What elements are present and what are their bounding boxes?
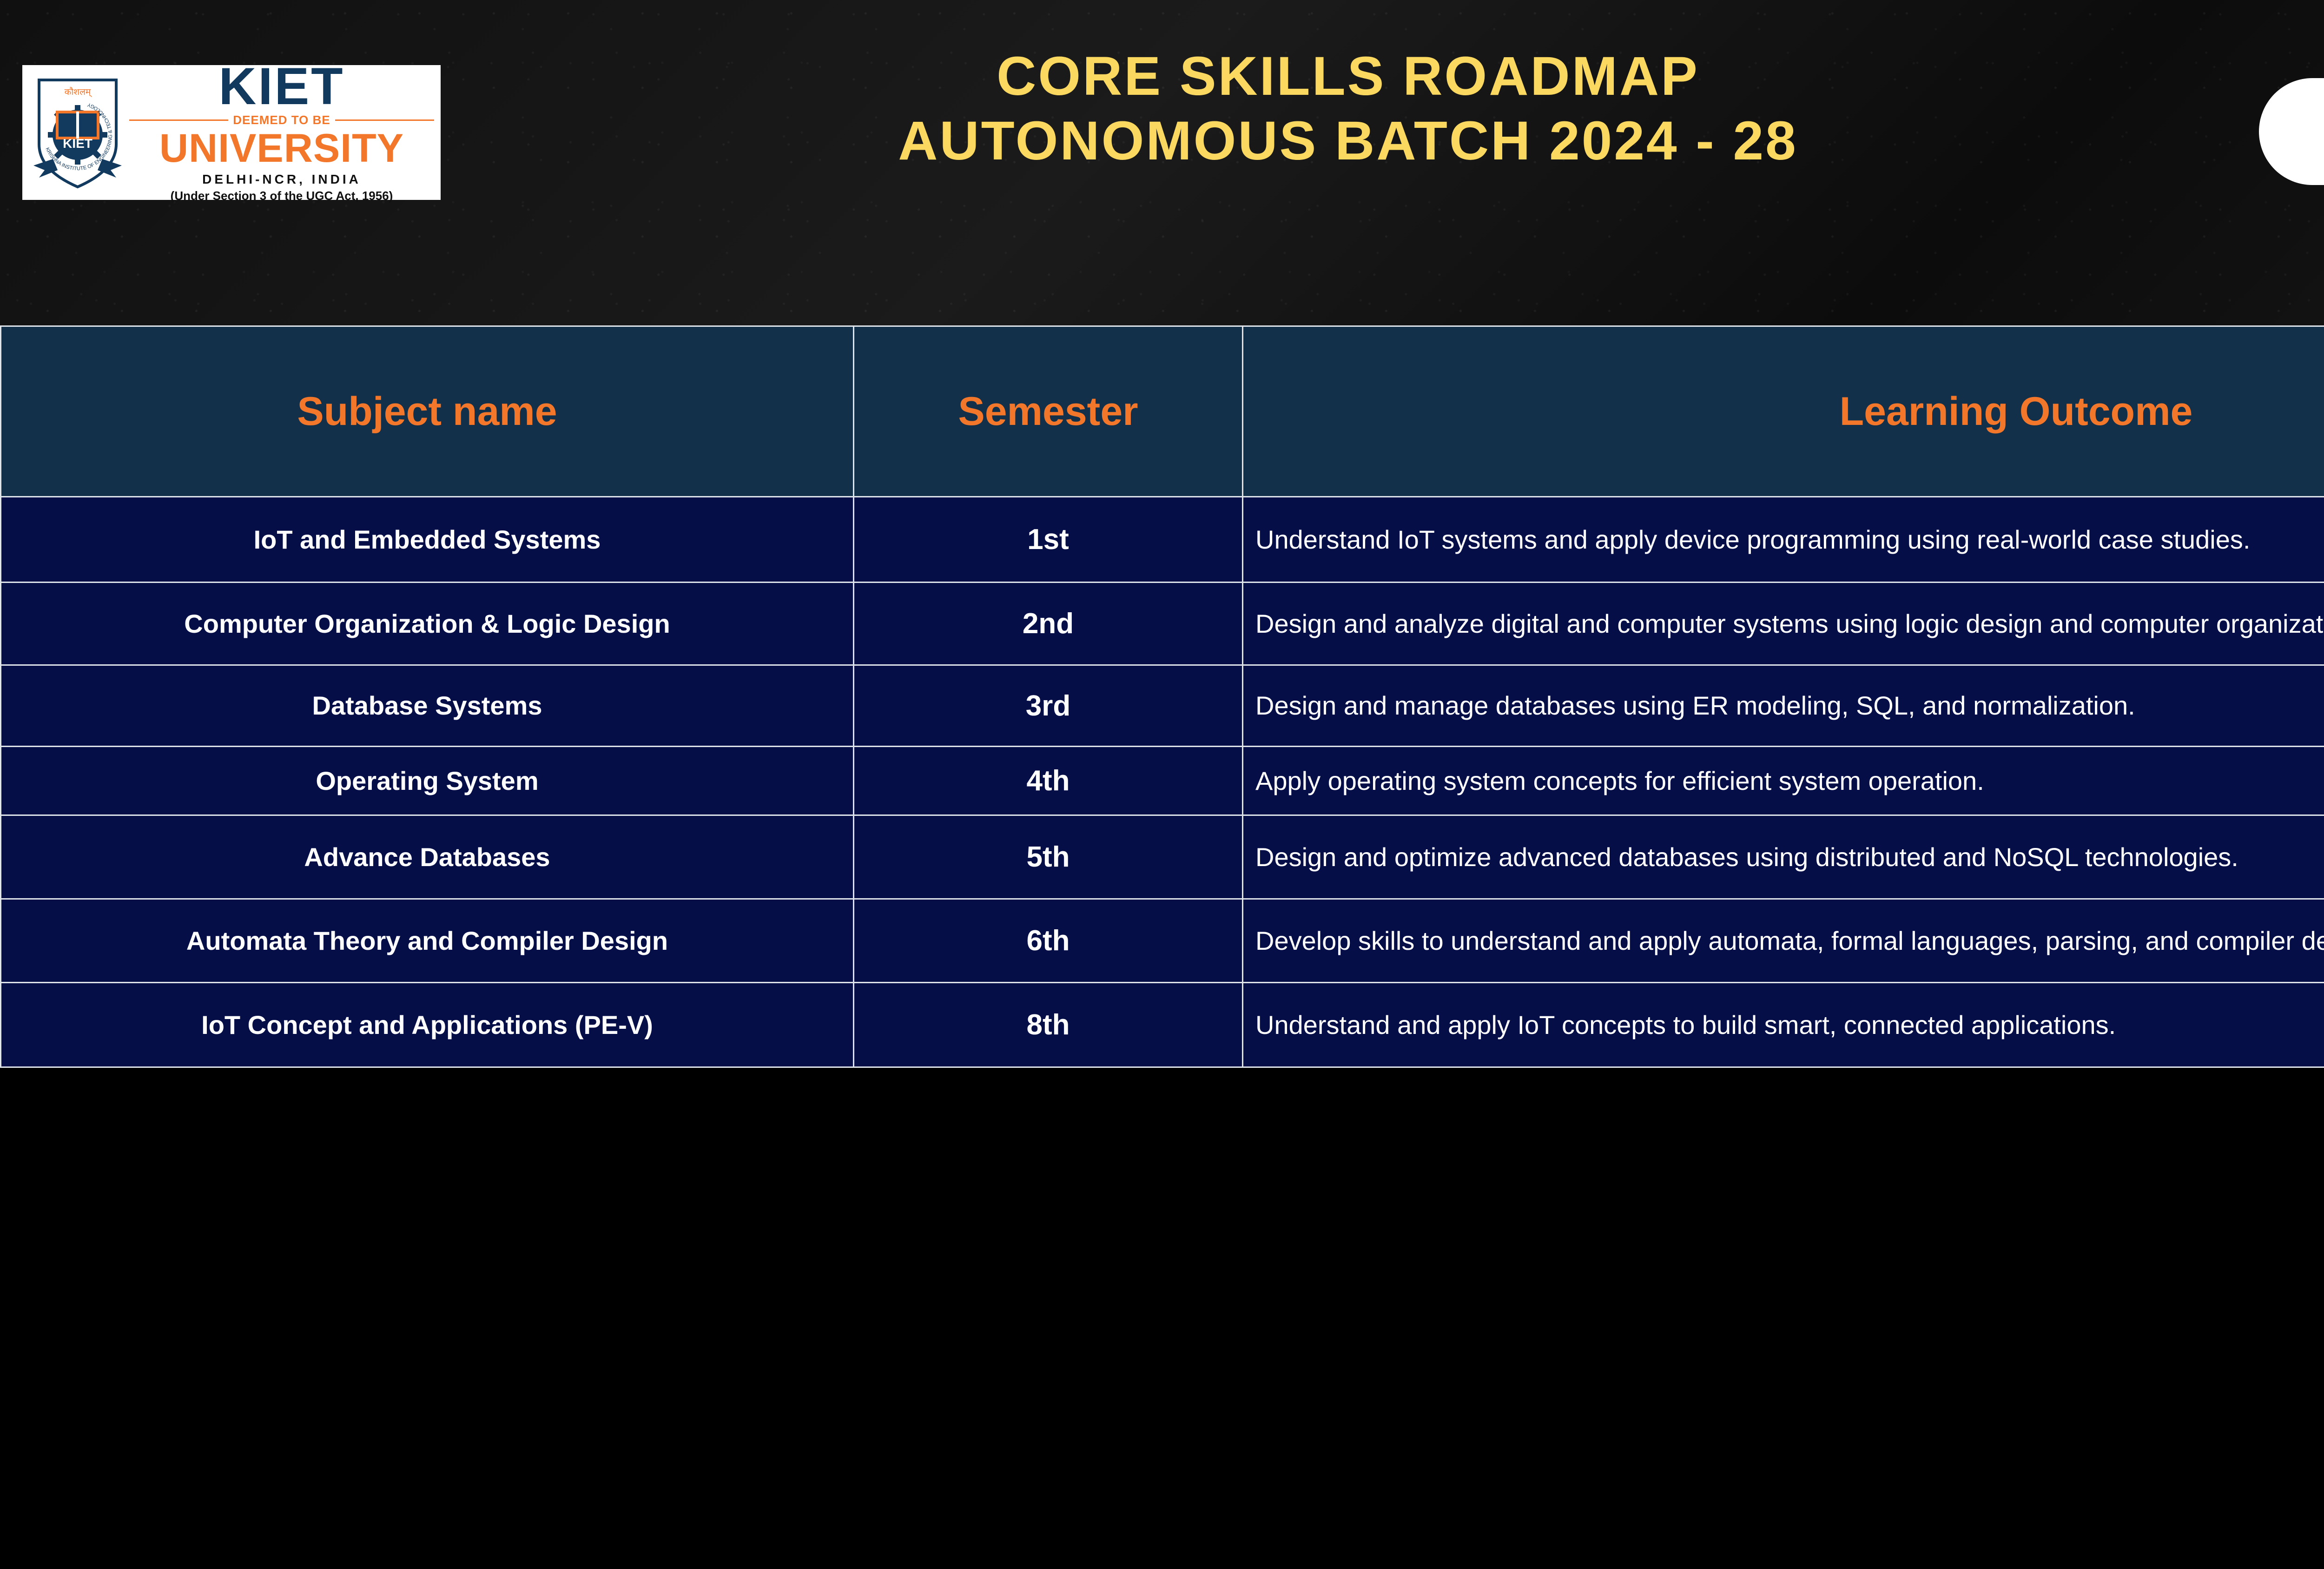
page-title-line-1: CORE SKILLS ROADMAP	[465, 44, 2231, 109]
page-header-band: कौशलम्	[0, 0, 2324, 325]
logo-deemed-text: DEEMED TO BE	[233, 113, 330, 127]
kiet-university-logo: कौशलम्	[22, 65, 441, 200]
logo-deemed-row: DEEMED TO BE	[129, 113, 434, 127]
cell-subject: Database Systems	[1, 665, 854, 747]
cell-learning-outcome: Apply operating system concepts for effi…	[1243, 747, 2324, 815]
table-row: IoT and Embedded Systems 1st Understand …	[1, 497, 2324, 583]
cell-semester: 8th	[854, 983, 1243, 1067]
cell-learning-outcome: Design and analyze digital and computer …	[1243, 583, 2324, 665]
department-badge: Dept. of CSE(AI/AI&ML)	[2259, 78, 2324, 185]
table-row: Database Systems 3rd Design and manage d…	[1, 665, 2324, 747]
cell-learning-outcome: Design and manage databases using ER mod…	[1243, 665, 2324, 747]
table-body: IoT and Embedded Systems 1st Understand …	[1, 497, 2324, 1067]
cell-semester: 6th	[854, 899, 1243, 983]
column-header-learning-outcome: Learning Outcome	[1243, 326, 2324, 497]
table-row: Advance Databases 5th Design and optimiz…	[1, 815, 2324, 899]
cell-semester: 4th	[854, 747, 1243, 815]
kiet-crest-icon: कौशलम्	[29, 74, 126, 191]
logo-university-text: UNIVERSITY	[159, 128, 404, 168]
logo-city-text: DELHI-NCR, INDIA	[202, 172, 361, 187]
column-header-subject-name: Subject name	[1, 326, 854, 497]
cell-learning-outcome: Develop skills to understand and apply a…	[1243, 899, 2324, 983]
logo-brand-text: KIET	[218, 62, 344, 111]
cell-learning-outcome: Understand and apply IoT concepts to bui…	[1243, 983, 2324, 1067]
cell-semester: 3rd	[854, 665, 1243, 747]
logo-rule-left	[129, 119, 228, 121]
column-header-semester: Semester	[854, 326, 1243, 497]
cell-subject: Computer Organization & Logic Design	[1, 583, 854, 665]
page-title: CORE SKILLS ROADMAP AUTONOMOUS BATCH 202…	[465, 44, 2231, 173]
cell-subject: IoT Concept and Applications (PE-V)	[1, 983, 854, 1067]
cell-subject: Advance Databases	[1, 815, 854, 899]
cell-subject: Operating System	[1, 747, 854, 815]
cell-subject: IoT and Embedded Systems	[1, 497, 854, 583]
table-row: IoT Concept and Applications (PE-V) 8th …	[1, 983, 2324, 1067]
svg-text:कौशलम्: कौशलम्	[65, 86, 92, 97]
page-title-line-2: AUTONOMOUS BATCH 2024 - 28	[465, 109, 2231, 173]
cell-learning-outcome: Understand IoT systems and apply device …	[1243, 497, 2324, 583]
cell-semester: 2nd	[854, 583, 1243, 665]
cell-subject: Automata Theory and Compiler Design	[1, 899, 854, 983]
logo-rule-right	[335, 119, 434, 121]
cell-learning-outcome: Design and optimize advanced databases u…	[1243, 815, 2324, 899]
table-row: Computer Organization & Logic Design 2nd…	[1, 583, 2324, 665]
table-row: Automata Theory and Compiler Design 6th …	[1, 899, 2324, 983]
core-skills-roadmap-table: Subject name Semester Learning Outcome I…	[0, 325, 2324, 1068]
svg-text:KIET: KIET	[63, 136, 92, 151]
cell-semester: 1st	[854, 497, 1243, 583]
table-header: Subject name Semester Learning Outcome	[1, 326, 2324, 497]
logo-act-text: (Under Section 3 of the UGC Act, 1956)	[171, 189, 393, 203]
table-header-row: Subject name Semester Learning Outcome	[1, 326, 2324, 497]
cell-semester: 5th	[854, 815, 1243, 899]
table-row: Operating System 4th Apply operating sys…	[1, 747, 2324, 815]
